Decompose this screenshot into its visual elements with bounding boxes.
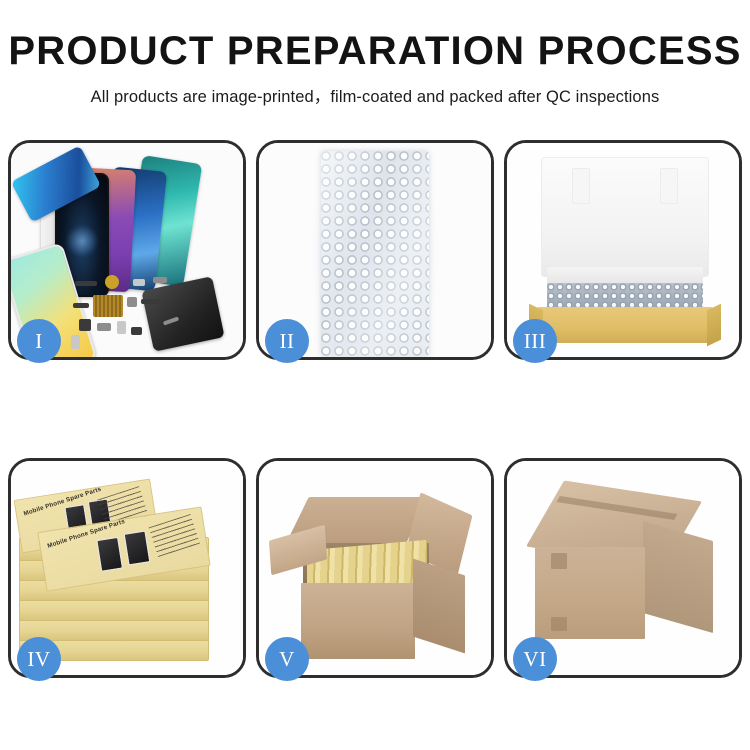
process-step-1: I xyxy=(8,140,246,360)
process-step-3: III xyxy=(504,140,742,360)
spare-parts-cluster xyxy=(71,275,201,357)
box-phone-image xyxy=(124,530,151,565)
process-step-2: II xyxy=(256,140,494,360)
page-title: PRODUCT PREPARATION PROCESS xyxy=(0,30,750,72)
mailer-lid-tab-left xyxy=(572,168,590,204)
process-step-4: Mobile Phone Spare Parts Mobile Phone Sp… xyxy=(8,458,246,678)
step-badge-4: IV xyxy=(17,637,61,681)
page-header: PRODUCT PREPARATION PROCESS All products… xyxy=(0,0,750,107)
box-phone-image xyxy=(96,537,123,572)
mailer-lid-tab-right xyxy=(660,168,678,204)
carton-front-face xyxy=(301,583,415,659)
process-step-5: V xyxy=(256,458,494,678)
bubble-wrap-sheet-icon xyxy=(321,151,429,356)
process-step-6: VI xyxy=(504,458,742,678)
box-spec-lines xyxy=(149,514,201,560)
mailer-box-front-icon xyxy=(537,307,713,343)
page-subtitle: All products are image-printed，film-coat… xyxy=(0,83,750,107)
sealed-carton-tape-patch-bottom xyxy=(551,617,567,631)
carton-side-face xyxy=(413,559,465,654)
step-badge-1: I xyxy=(17,319,61,363)
mailer-lid-icon xyxy=(541,157,709,277)
sealed-carton-side-face xyxy=(643,521,713,633)
process-step-grid: I II III xyxy=(8,140,742,678)
step-badge-2: II xyxy=(265,319,309,363)
sealed-carton-tape-patch-top xyxy=(551,553,567,569)
step-badge-3: III xyxy=(513,319,557,363)
step-badge-5: V xyxy=(265,637,309,681)
step-badge-6: VI xyxy=(513,637,557,681)
